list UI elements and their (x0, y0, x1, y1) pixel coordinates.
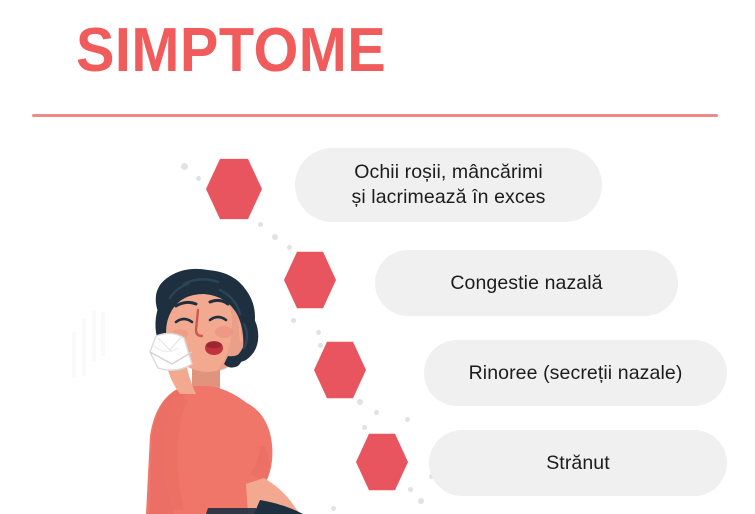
infographic-page: SIMPTOME Ochii roșii, mâncărimi și lacri… (0, 0, 755, 514)
trail-dot (331, 506, 336, 511)
trail-dot (258, 222, 263, 227)
trail-dot (408, 487, 413, 492)
trail-dot (418, 498, 424, 504)
trail-dot (357, 399, 363, 405)
symptom-pill-rhinorrhea[interactable]: Rinoree (secreții nazale) (424, 340, 727, 406)
page-title: SIMPTOME (76, 16, 386, 86)
trail-dot (374, 410, 379, 415)
symptom-text-line1: Strănut (546, 451, 610, 476)
trail-dot (362, 425, 367, 430)
hexagon-marker-1 (206, 157, 262, 221)
symptom-pill-congestion[interactable]: Congestie nazală (375, 250, 678, 316)
symptom-pill-sneezing[interactable]: Strănut (429, 430, 727, 496)
sneezing-man-illustration (88, 268, 303, 514)
trail-dot (196, 176, 201, 181)
symptom-text-line1: Congestie nazală (450, 271, 602, 296)
trail-dot (272, 234, 278, 240)
trail-dot (318, 343, 323, 348)
symptom-text-line1: Ochii roșii, mâncărimi (354, 160, 543, 185)
symptom-pill-eye[interactable]: Ochii roșii, mâncărimi și lacrimează în … (295, 148, 602, 222)
trail-dot (316, 330, 321, 335)
motion-line (72, 332, 76, 378)
symptom-text-line1: Rinoree (secreții nazale) (469, 361, 683, 386)
trail-dot (405, 417, 410, 422)
title-divider (32, 114, 718, 117)
motion-line (82, 318, 86, 376)
trail-dot (181, 163, 188, 170)
symptom-text-line2: și lacrimează în exces (351, 185, 545, 210)
trail-dot (287, 245, 292, 250)
hexagon-marker-3 (314, 340, 366, 400)
hexagon-marker-4 (356, 432, 408, 492)
